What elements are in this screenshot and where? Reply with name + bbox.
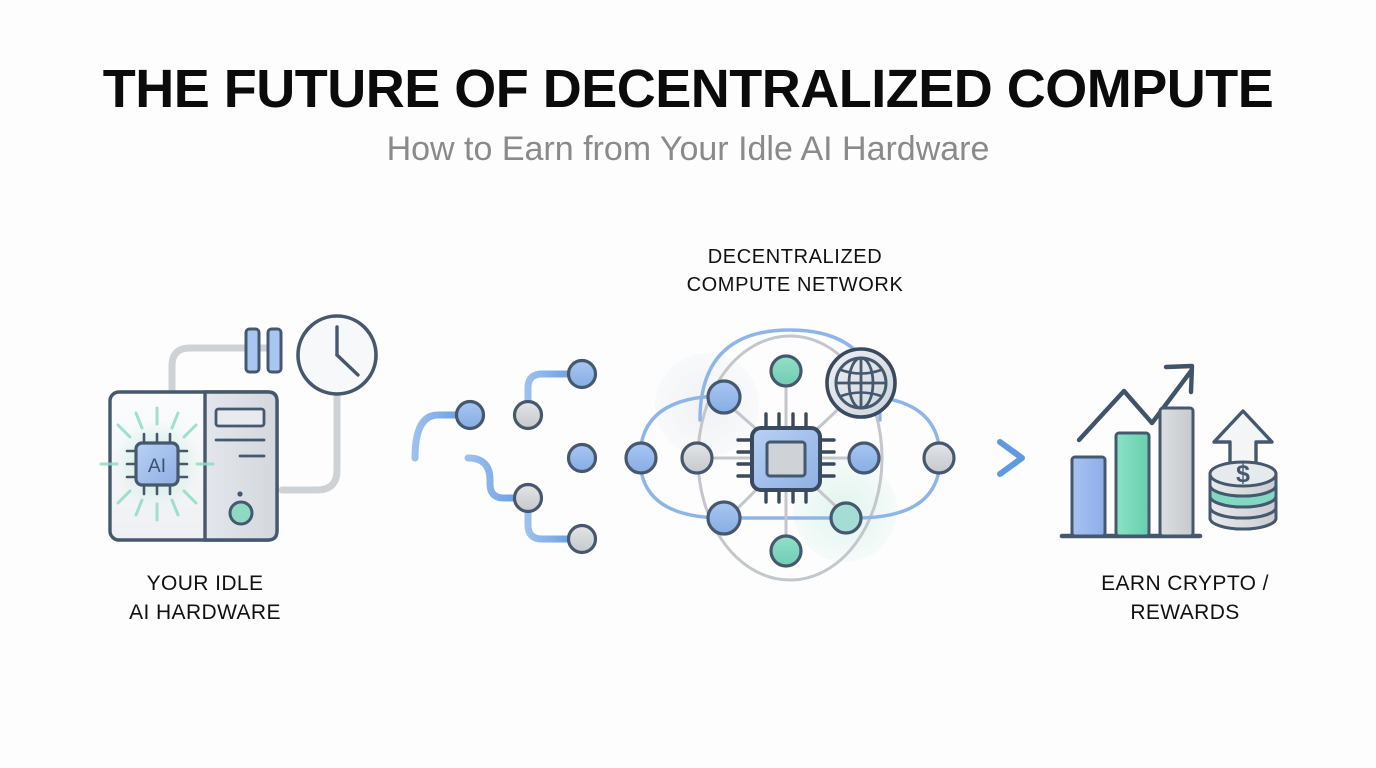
dollar-sign-icon: $ — [1236, 460, 1250, 488]
network-node-blue-right — [849, 443, 879, 473]
network-node-teal-bottom — [771, 536, 801, 566]
pause-icon-bar-right — [268, 329, 281, 372]
network-node-blue-bottomleft — [708, 502, 740, 534]
power-led — [237, 491, 242, 496]
diagram-illustration: AI — [0, 0, 1376, 768]
caption-compute-network: DECENTRALIZED COMPUTE NETWORK — [640, 244, 950, 299]
infographic-canvas: THE FUTURE OF DECENTRALIZED COMPUTE How … — [0, 0, 1376, 768]
drive-bay — [216, 409, 264, 426]
stage-earn-rewards: $ — [1062, 366, 1276, 536]
pause-icon-bar-left — [246, 329, 259, 372]
flow-node-grey-2 — [515, 485, 542, 512]
stage-compute-network — [626, 330, 1022, 580]
flow-node-blue-1 — [457, 402, 484, 429]
ai-chip-label: AI — [148, 456, 166, 477]
flow-branch-diagram — [363, 361, 596, 553]
bar-chart-bar-2 — [1116, 433, 1149, 536]
power-button[interactable] — [230, 502, 252, 524]
network-node-blue-far-left — [626, 443, 656, 473]
flow-node-blue-2 — [569, 361, 596, 388]
caption-earn-rewards: EARN CRYPTO / REWARDS — [1040, 570, 1330, 628]
flow-node-blue-3 — [569, 445, 596, 472]
bar-chart-bar-1 — [1072, 457, 1105, 536]
cable-right — [282, 392, 337, 490]
network-node-blue-topleft — [708, 381, 740, 413]
caption-idle-hardware: YOUR IDLE AI HARDWARE — [60, 570, 350, 628]
flow-node-grey-1 — [515, 402, 542, 429]
network-node-grey-left — [682, 443, 712, 473]
flow-node-grey-3 — [569, 526, 596, 553]
coin-stack: $ — [1210, 460, 1276, 529]
network-node-teal-top — [771, 356, 801, 386]
bar-chart-bar-3 — [1160, 408, 1193, 536]
stage-idle-hardware: AI — [101, 316, 376, 540]
cpu-chip-core — [767, 442, 805, 476]
network-node-teal-bottomright — [831, 503, 861, 533]
